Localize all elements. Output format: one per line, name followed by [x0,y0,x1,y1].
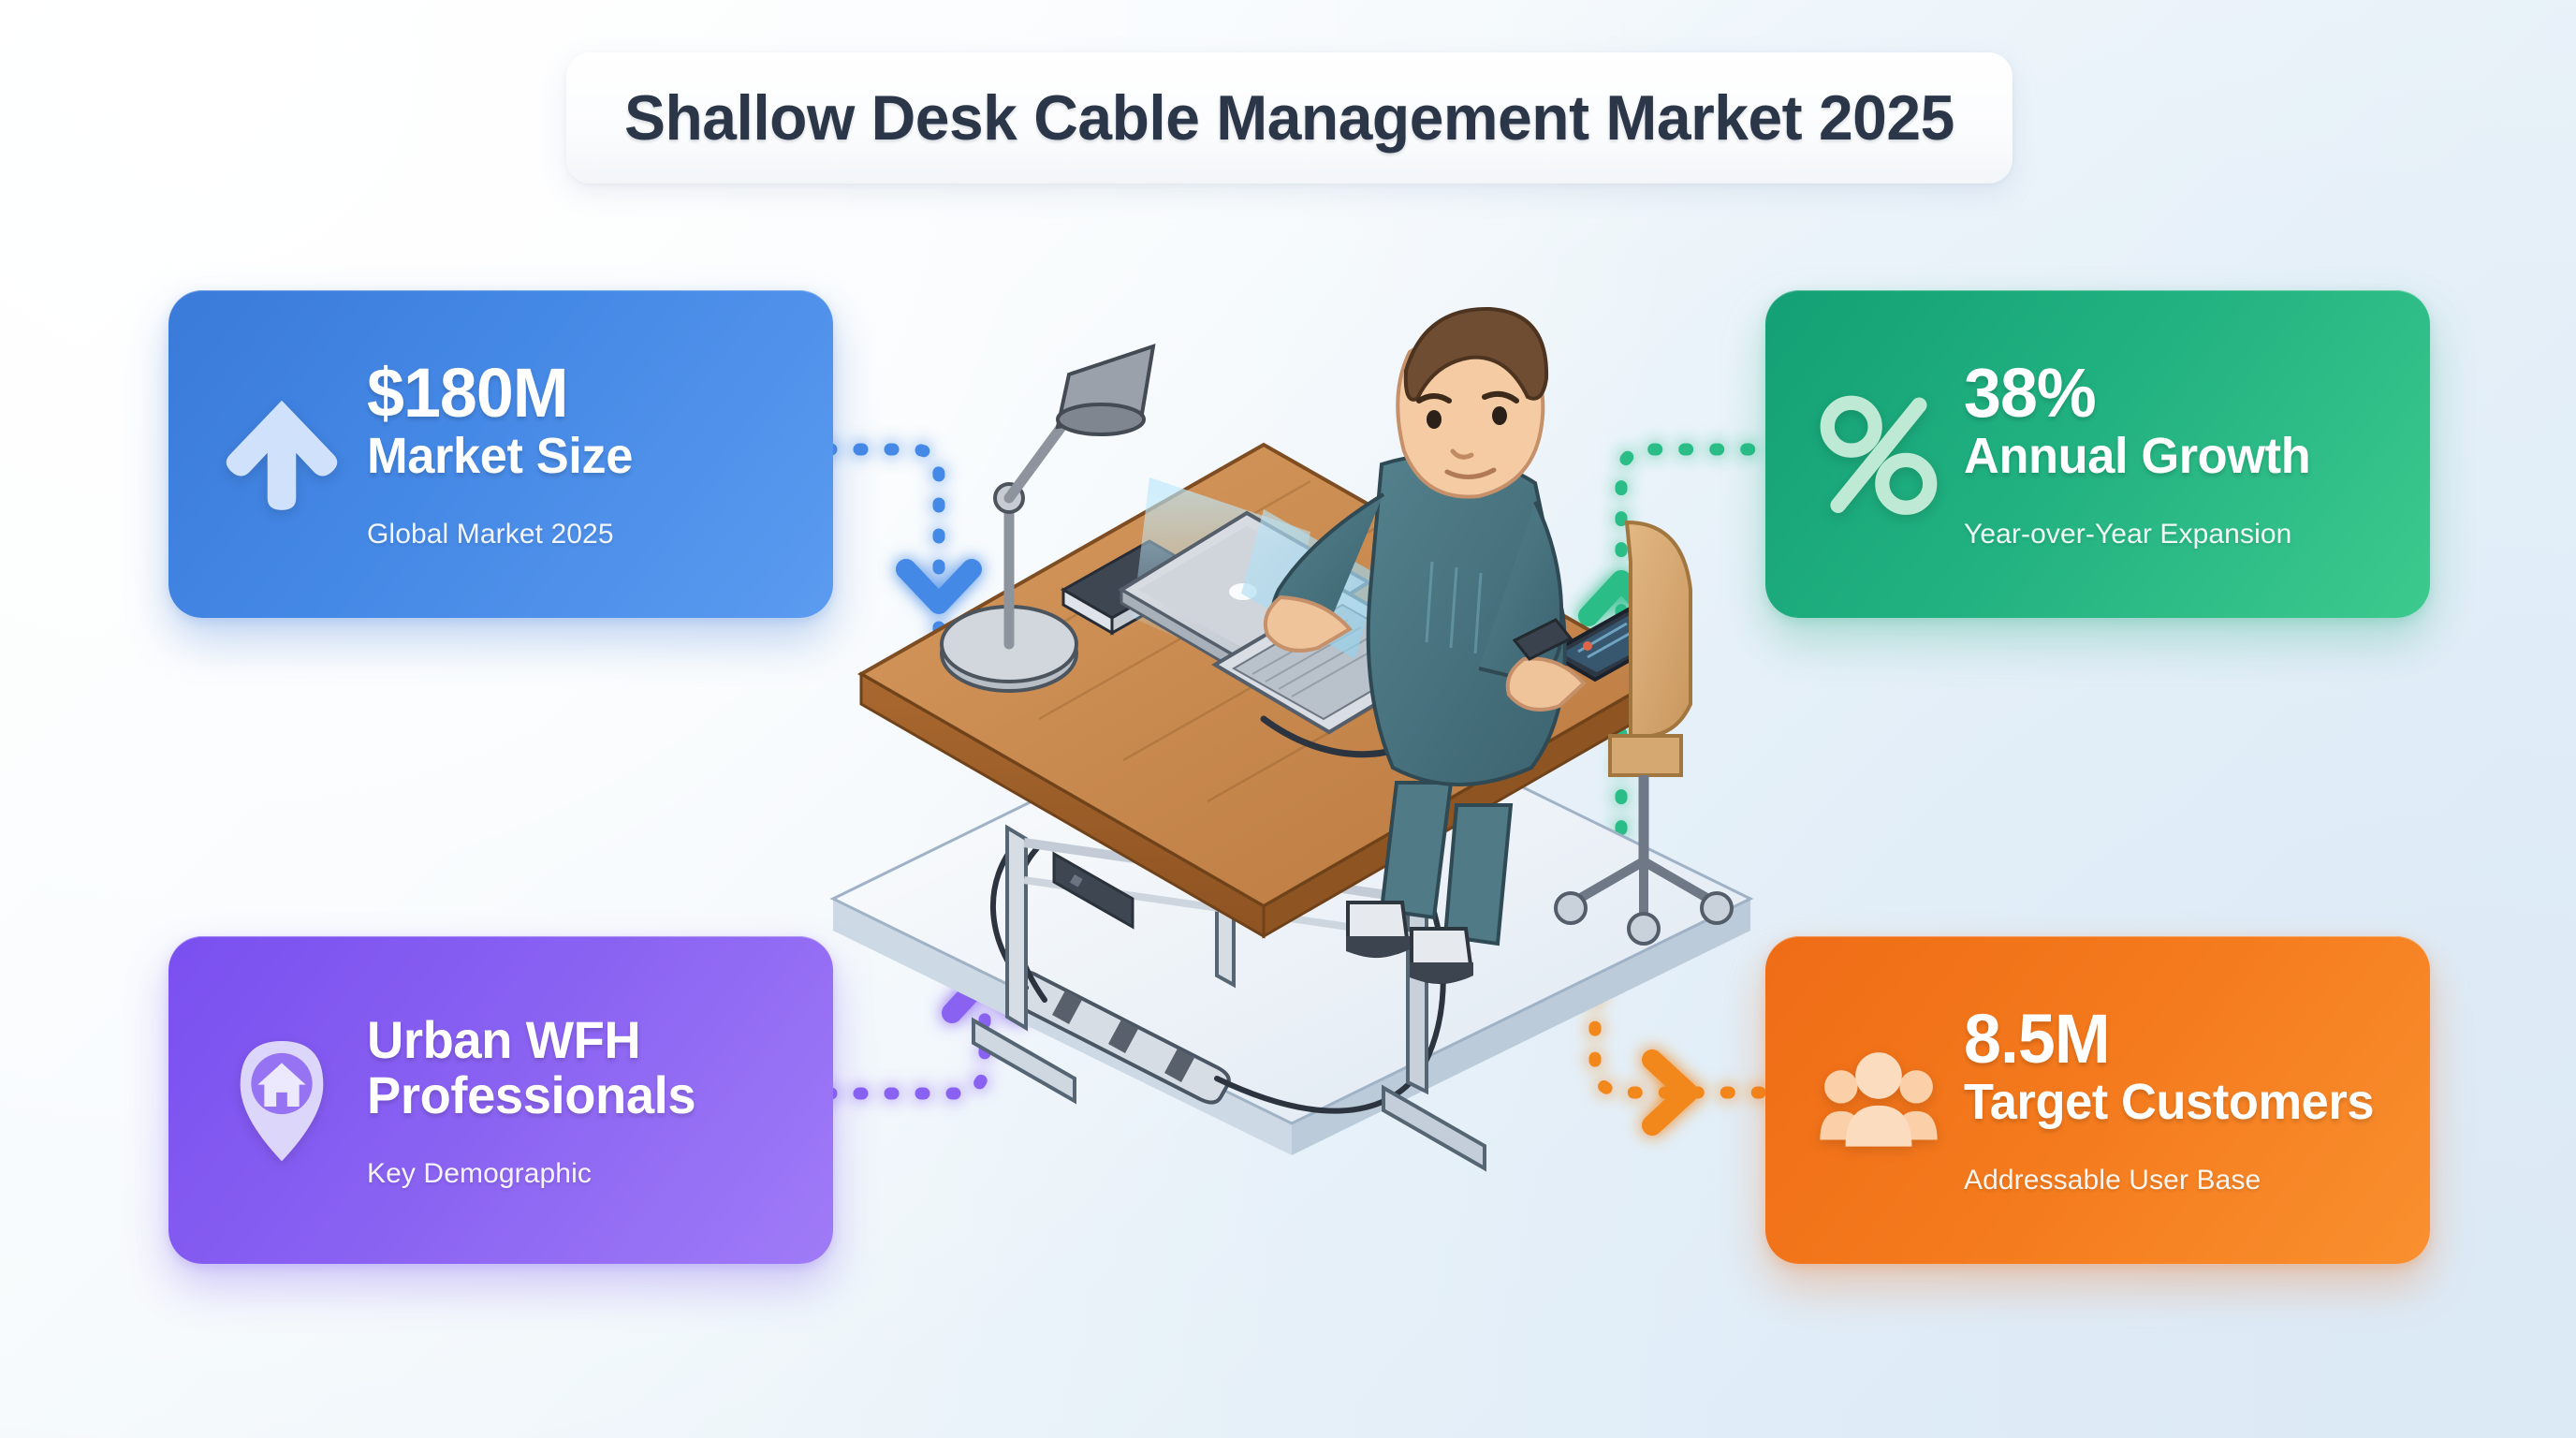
stat-sublabel: Year-over-Year Expansion [1964,519,2321,550]
stat-card-body: Urban WFH Professionals Key Demographic [367,1010,833,1191]
stat-card-body: 38% Annual Growth Year-over-Year Expansi… [1964,358,2321,551]
stat-label: Market Size [367,430,633,483]
stat-value: $180M [367,358,633,428]
stat-card-market-size[interactable]: $180M Market Size Global Market 2025 [168,290,833,618]
isometric-desk-workspace-illustration [824,281,1760,1236]
page-title: Shallow Desk Cable Management Market 202… [624,81,1954,154]
arrow-up-icon [221,389,343,520]
stat-sublabel: Key Demographic [367,1158,833,1190]
stat-card-demographic[interactable]: Urban WFH Professionals Key Demographic [168,936,833,1264]
stat-label: Urban WFH Professionals [367,1012,819,1123]
stat-card-body: 8.5M Target Customers Addressable User B… [1964,1004,2387,1197]
people-group-icon [1818,1034,1939,1166]
stat-card-target-customers[interactable]: 8.5M Target Customers Addressable User B… [1765,936,2430,1264]
stat-label: Target Customers [1964,1076,2374,1129]
location-pin-home-icon [221,1034,343,1166]
stat-value: 8.5M [1964,1004,2374,1074]
stat-label: Annual Growth [1964,430,2310,483]
stat-value: 38% [1964,358,2310,428]
stat-card-annual-growth[interactable]: 38% Annual Growth Year-over-Year Expansi… [1765,290,2430,618]
stat-sublabel: Global Market 2025 [367,519,641,550]
stat-sublabel: Addressable User Base [1964,1165,2387,1196]
percent-icon [1818,389,1939,520]
stat-card-body: $180M Market Size Global Market 2025 [367,358,641,551]
page-title-banner: Shallow Desk Cable Management Market 202… [566,52,2012,183]
